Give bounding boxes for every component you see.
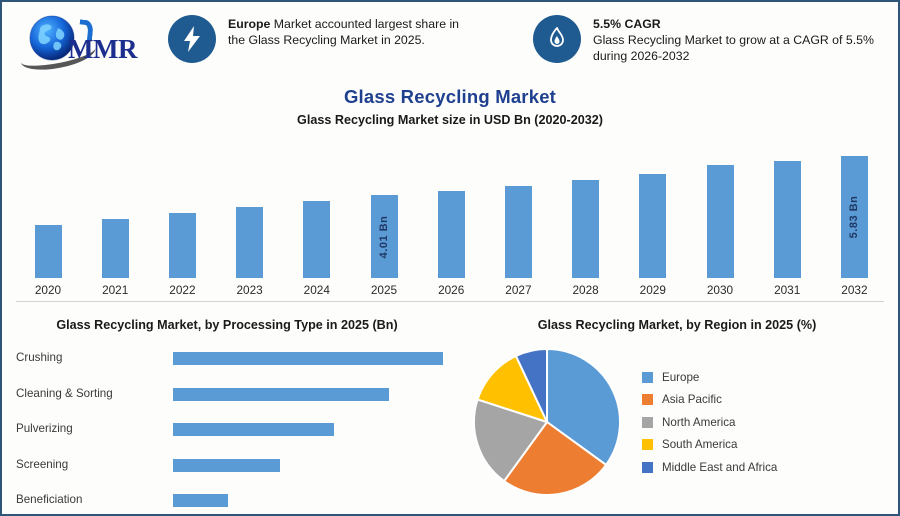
- x-axis-label-2024: 2024: [297, 278, 337, 297]
- legend-swatch-north-america: [642, 417, 653, 428]
- region-pie-title: Glass Recycling Market, by Region in 202…: [462, 318, 892, 332]
- legend-label-north-america: North America: [662, 416, 735, 429]
- hbar-label-screening: Screening: [16, 458, 68, 471]
- stat-block-cagr: 5.5% CAGR Glass Recycling Market to grow…: [533, 12, 883, 64]
- bar-group: 2030: [700, 165, 740, 297]
- processing-type-bar-chart: Glass Recycling Market, by Processing Ty…: [2, 310, 462, 516]
- legend-item: South America: [642, 434, 777, 457]
- x-axis-label-2023: 2023: [230, 278, 270, 297]
- hbar-row: Pulverizing: [2, 420, 462, 440]
- legend-label-asia-pacific: Asia Pacific: [662, 393, 722, 406]
- stat-text-cagr: 5.5% CAGR Glass Recycling Market to grow…: [593, 12, 883, 64]
- bar-2024: [303, 201, 330, 278]
- bar-group: 2022: [162, 213, 202, 297]
- x-axis-label-2021: 2021: [95, 278, 135, 297]
- bar-2031: [774, 161, 801, 278]
- x-axis-label-2031: 2031: [767, 278, 807, 297]
- bar-2021: [102, 219, 129, 278]
- flame-icon: [533, 15, 581, 63]
- hbar-label-beneficiation: Beneficiation: [16, 493, 82, 506]
- bar-group: 2029: [633, 174, 673, 297]
- market-size-bar-chart: 202020212022202320244.01 Bn2025202620272…: [2, 132, 898, 297]
- bar-2026: [438, 191, 465, 278]
- legend-label-europe: Europe: [662, 371, 699, 384]
- x-axis-label-2029: 2029: [633, 278, 673, 297]
- x-axis-label-2025: 2025: [364, 278, 404, 297]
- processing-type-title: Glass Recycling Market, by Processing Ty…: [2, 318, 452, 332]
- hbar-label-crushing: Crushing: [16, 351, 62, 364]
- stat-lead-europe: Europe: [228, 17, 270, 31]
- bar-value-label-2025: 4.01 Bn: [378, 215, 390, 258]
- bar-group: 2027: [498, 186, 538, 297]
- hbar-row: Crushing: [2, 349, 462, 369]
- stat-text-europe: Europe Market accounted largest share in…: [228, 12, 468, 48]
- legend-swatch-europe: [642, 372, 653, 383]
- page-subtitle: Glass Recycling Market size in USD Bn (2…: [2, 113, 898, 127]
- legend-label-south-america: South America: [662, 438, 737, 451]
- hbar-cleaning-sorting: [173, 388, 389, 401]
- hbar-screening: [173, 459, 280, 472]
- bar-group: 4.01 Bn2025: [364, 195, 404, 297]
- legend-swatch-asia-pacific: [642, 394, 653, 405]
- bar-2022: [169, 213, 196, 278]
- bar-2030: [707, 165, 734, 278]
- infographic-page: MMR Europe Market accounted largest shar…: [0, 0, 900, 516]
- hbar-beneficiation: [173, 494, 228, 507]
- legend-item: Asia Pacific: [642, 389, 777, 412]
- bar-2032: 5.83 Bn: [841, 156, 868, 278]
- bar-group: 2031: [767, 161, 807, 297]
- bar-group: 2023: [230, 207, 270, 297]
- page-title: Glass Recycling Market: [2, 86, 898, 108]
- bar-2029: [639, 174, 666, 278]
- hbar-label-cleaning-sorting: Cleaning & Sorting: [16, 387, 113, 400]
- region-pie-chart: Glass Recycling Market, by Region in 202…: [462, 310, 898, 516]
- hbar-crushing: [173, 352, 443, 365]
- pie-svg: [472, 346, 622, 498]
- x-axis-label-2027: 2027: [498, 278, 538, 297]
- hbar-row: Screening: [2, 456, 462, 476]
- bar-value-label-2032: 5.83 Bn: [848, 196, 860, 239]
- pie-legend: EuropeAsia PacificNorth AmericaSouth Ame…: [642, 366, 777, 479]
- x-axis-label-2030: 2030: [700, 278, 740, 297]
- bar-group: 2024: [297, 201, 337, 297]
- legend-label-middle-east-and-africa: Middle East and Africa: [662, 461, 777, 474]
- company-logo: MMR: [20, 8, 152, 74]
- bar-group: 2026: [431, 191, 471, 297]
- stat-rest-cagr: Glass Recycling Market to grow at a CAGR…: [593, 33, 874, 63]
- legend-item: Middle East and Africa: [642, 456, 777, 479]
- lightning-bolt-icon: [168, 15, 216, 63]
- bar-group: 2020: [28, 225, 68, 297]
- header: MMR Europe Market accounted largest shar…: [2, 2, 898, 78]
- bar-2028: [572, 180, 599, 278]
- logo-text: MMR: [68, 34, 137, 65]
- x-axis-label-2022: 2022: [162, 278, 202, 297]
- bar-2025: 4.01 Bn: [371, 195, 398, 278]
- stat-lead-cagr: 5.5% CAGR: [593, 17, 661, 31]
- legend-swatch-south-america: [642, 439, 653, 450]
- stat-block-europe: Europe Market accounted largest share in…: [168, 12, 468, 63]
- legend-item: North America: [642, 411, 777, 434]
- hbar-pulverizing: [173, 423, 334, 436]
- x-axis-label-2028: 2028: [566, 278, 606, 297]
- x-axis-label-2026: 2026: [431, 278, 471, 297]
- bar-group: 2021: [95, 219, 135, 297]
- bar-2023: [236, 207, 263, 278]
- bar-2027: [505, 186, 532, 278]
- x-axis-label-2020: 2020: [28, 278, 68, 297]
- legend-swatch-middle-east-and-africa: [642, 462, 653, 473]
- hbar-row: Cleaning & Sorting: [2, 385, 462, 405]
- hbar-label-pulverizing: Pulverizing: [16, 422, 73, 435]
- x-axis-label-2032: 2032: [834, 278, 874, 297]
- bar-group: 5.83 Bn2032: [834, 156, 874, 297]
- bar-group: 2028: [566, 180, 606, 297]
- hbar-row: Beneficiation: [2, 491, 462, 511]
- legend-item: Europe: [642, 366, 777, 389]
- section-divider: [16, 301, 884, 302]
- bar-2020: [35, 225, 62, 278]
